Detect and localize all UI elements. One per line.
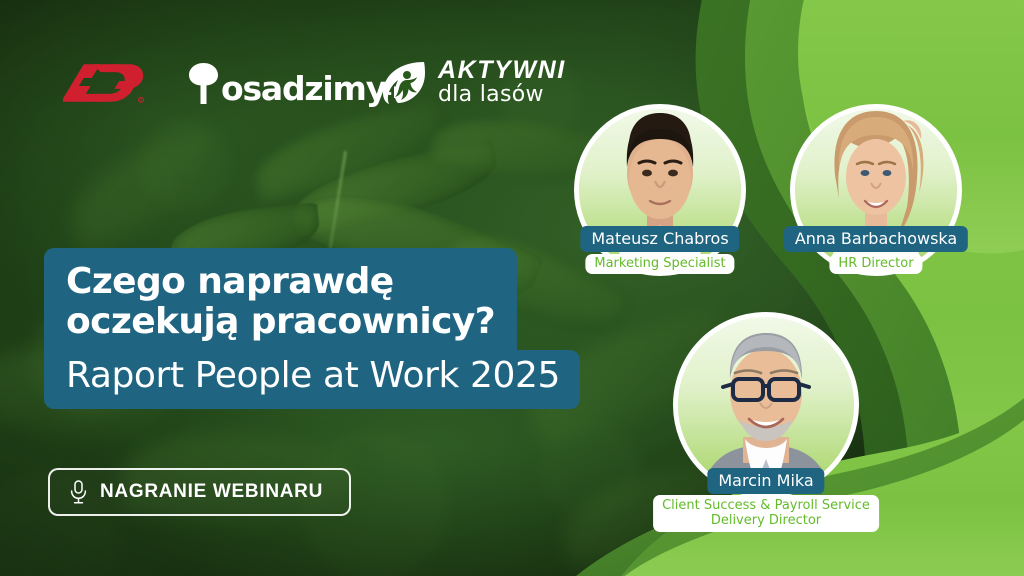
portrait-photo bbox=[678, 317, 854, 493]
aktywni-dla-lasow-logo: AKTYWNI dla lasów bbox=[380, 58, 566, 107]
headline-subtitle: Raport People at Work 2025 bbox=[44, 350, 580, 409]
headline-primary: Czego naprawdęoczekują pracownicy? bbox=[44, 248, 517, 352]
webinar-banner: R osadzimy .pl AKTYWNI dla lasów bbox=[0, 0, 1024, 576]
headline-line2: oczekują pracownicy? bbox=[66, 301, 495, 342]
speaker-role-badge: Marketing Specialist bbox=[585, 254, 734, 274]
posadzimy-logo: osadzimy .pl bbox=[186, 62, 409, 104]
microphone-icon bbox=[70, 480, 87, 504]
speaker-name-badge: Mateusz Chabros bbox=[580, 226, 739, 252]
adp-logo: R bbox=[62, 60, 146, 106]
headline-block: Czego naprawdęoczekują pracownicy? Rapor… bbox=[44, 248, 580, 409]
cta-label: NAGRANIE WEBINARU bbox=[100, 481, 323, 503]
tree-icon bbox=[186, 62, 220, 104]
posadzimy-wordmark: osadzimy bbox=[221, 73, 386, 104]
speaker-name-badge: Marcin Mika bbox=[707, 468, 824, 494]
speaker-role-badge: HR Director bbox=[829, 254, 922, 274]
speaker-role-badge: Client Success & Payroll ServiceDelivery… bbox=[653, 495, 879, 532]
speaker-card-mateusz-chabros: Mateusz Chabros Marketing Specialist bbox=[566, 104, 754, 276]
svg-text:R: R bbox=[140, 98, 143, 103]
speaker-name-badge: Anna Barbachowska bbox=[784, 226, 968, 252]
speaker-card-anna-barbachowska: Anna Barbachowska HR Director bbox=[782, 104, 970, 276]
speaker-role-line1: Client Success & Payroll Service bbox=[662, 498, 870, 513]
partner-logo-bar: R osadzimy .pl AKTYWNI dla lasów bbox=[0, 55, 600, 117]
headline-line1: Czego naprawdę bbox=[66, 261, 394, 302]
aktywni-line2: dla lasów bbox=[438, 83, 566, 107]
aktywni-line1: AKTYWNI bbox=[438, 58, 566, 83]
nagranie-webinaru-button[interactable]: NAGRANIE WEBINARU bbox=[48, 468, 351, 516]
speaker-card-marcin-mika: Marcin Mika Client Success & Payroll Ser… bbox=[666, 312, 866, 498]
speaker-role-line2: Delivery Director bbox=[711, 513, 821, 528]
leaf-icon bbox=[380, 59, 428, 107]
